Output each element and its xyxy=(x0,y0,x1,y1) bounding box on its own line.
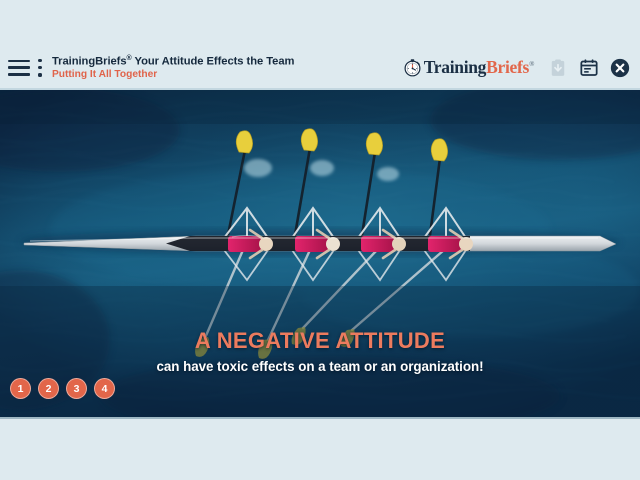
course-title-brand: TrainingBriefs xyxy=(52,55,127,67)
hamburger-bar xyxy=(8,73,30,76)
slide-pagination: 1 2 3 4 xyxy=(10,378,115,399)
trainingbriefs-logo[interactable]: TrainingBriefs® xyxy=(403,57,534,78)
stage-bottom-divider xyxy=(0,417,640,419)
course-title-block: TrainingBriefs® Your Attitude Effects th… xyxy=(52,55,403,81)
slide-stage: A NEGATIVE ATTITUDE can have toxic effec… xyxy=(0,90,640,418)
pagination-item-1[interactable]: 1 xyxy=(10,378,31,399)
kebab-dot xyxy=(38,59,41,62)
notes-icon[interactable] xyxy=(579,58,599,78)
course-title: TrainingBriefs® Your Attitude Effects th… xyxy=(52,55,403,68)
download-icon xyxy=(548,58,568,78)
hamburger-bar xyxy=(8,66,30,69)
kebab-dot xyxy=(38,66,41,69)
hamburger-menu-icon[interactable] xyxy=(8,60,30,76)
slide-photo-rowing-team xyxy=(0,90,640,418)
lesson-subtitle: Putting It All Together xyxy=(52,69,403,80)
pagination-item-3[interactable]: 3 xyxy=(66,378,87,399)
logo-trademark-symbol: ® xyxy=(529,60,534,68)
kebab-dot xyxy=(38,73,41,76)
kebab-menu-icon[interactable] xyxy=(37,59,43,77)
hamburger-bar xyxy=(8,60,30,63)
course-player-window: TrainingBriefs® Your Attitude Effects th… xyxy=(0,0,640,480)
course-title-rest: Your Attitude Effects the Team xyxy=(132,55,295,67)
pagination-item-4[interactable]: 4 xyxy=(94,378,115,399)
close-icon[interactable] xyxy=(610,58,630,78)
pagination-item-2[interactable]: 2 xyxy=(38,378,59,399)
logo-wordmark: TrainingBriefs® xyxy=(424,57,534,78)
stopwatch-icon xyxy=(403,58,422,77)
logo-word-briefs: Briefs xyxy=(486,57,529,77)
player-header: TrainingBriefs® Your Attitude Effects th… xyxy=(0,45,640,90)
header-icon-group xyxy=(548,58,630,78)
logo-word-training: Training xyxy=(424,57,486,77)
